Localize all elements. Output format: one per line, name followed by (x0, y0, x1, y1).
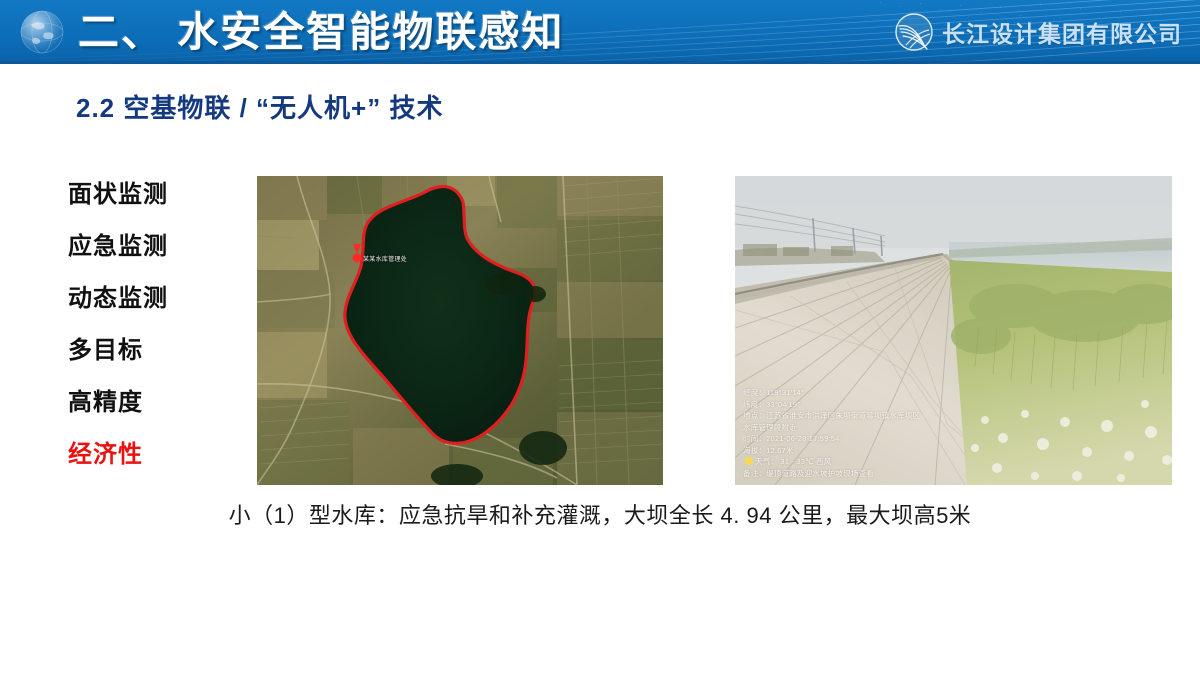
page-title: 二、 水安全智能物联感知 (78, 3, 564, 61)
section-subtitle: 2.2 空基物联 / “无人机+” 技术 (76, 88, 443, 125)
feature-item-emergency-monitoring: 应急监测 (68, 234, 238, 260)
dam-embankment-photo: 经度：119°31′14″ 纬度：33°04′19″ 地点：江苏省淮安市洪泽区朱… (735, 176, 1172, 485)
feature-item-economical: 经济性 (68, 442, 238, 468)
reservoir-satellite-map: 某某水库管理处 (257, 176, 663, 485)
brand-block: 长江设计集团有限公司 (894, 12, 1182, 52)
satellite-map-graphic (257, 176, 663, 485)
changjiang-logo-icon (894, 12, 934, 52)
feature-item-dynamic-monitoring: 动态监测 (68, 286, 238, 312)
feature-item-multi-target: 多目标 (68, 338, 238, 364)
figure-caption: 小（1）型水库：应急抗旱和补充灌溉，大坝全长 4. 94 公里，最大坝高5米 (0, 498, 1200, 530)
globe-icon (18, 8, 66, 56)
dam-photo-graphic (735, 176, 1172, 485)
feature-item-high-precision: 高精度 (68, 390, 238, 416)
feature-item-area-monitoring: 面状监测 (68, 182, 238, 208)
slide-header: 二、 水安全智能物联感知 长江设计集团有限公司 (0, 0, 1200, 64)
slide-root: 二、 水安全智能物联感知 长江设计集团有限公司 2.2 空基物联 / “无人 (0, 0, 1200, 675)
feature-list: 面状监测 应急监测 动态监测 多目标 高精度 经济性 (68, 182, 238, 494)
brand-name: 长江设计集团有限公司 (942, 15, 1182, 49)
